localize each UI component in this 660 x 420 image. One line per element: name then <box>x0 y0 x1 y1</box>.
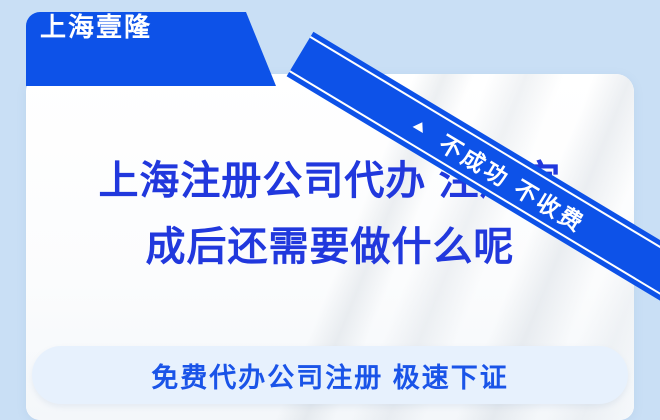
brand-tab-content: 上海壹隆 <box>0 0 250 74</box>
cta-pill[interactable]: 免费代办公司注册 极速下证 <box>32 346 628 404</box>
poster-canvas: 上海注册公司代办 注册完 成后还需要做什么呢 上海壹隆 免费代办公司注册 极速下… <box>0 0 660 420</box>
brand-name-label: 上海壹隆 <box>40 14 152 40</box>
triangle-up-icon <box>413 119 428 133</box>
cta-pill-label: 免费代办公司注册 极速下证 <box>151 356 509 395</box>
